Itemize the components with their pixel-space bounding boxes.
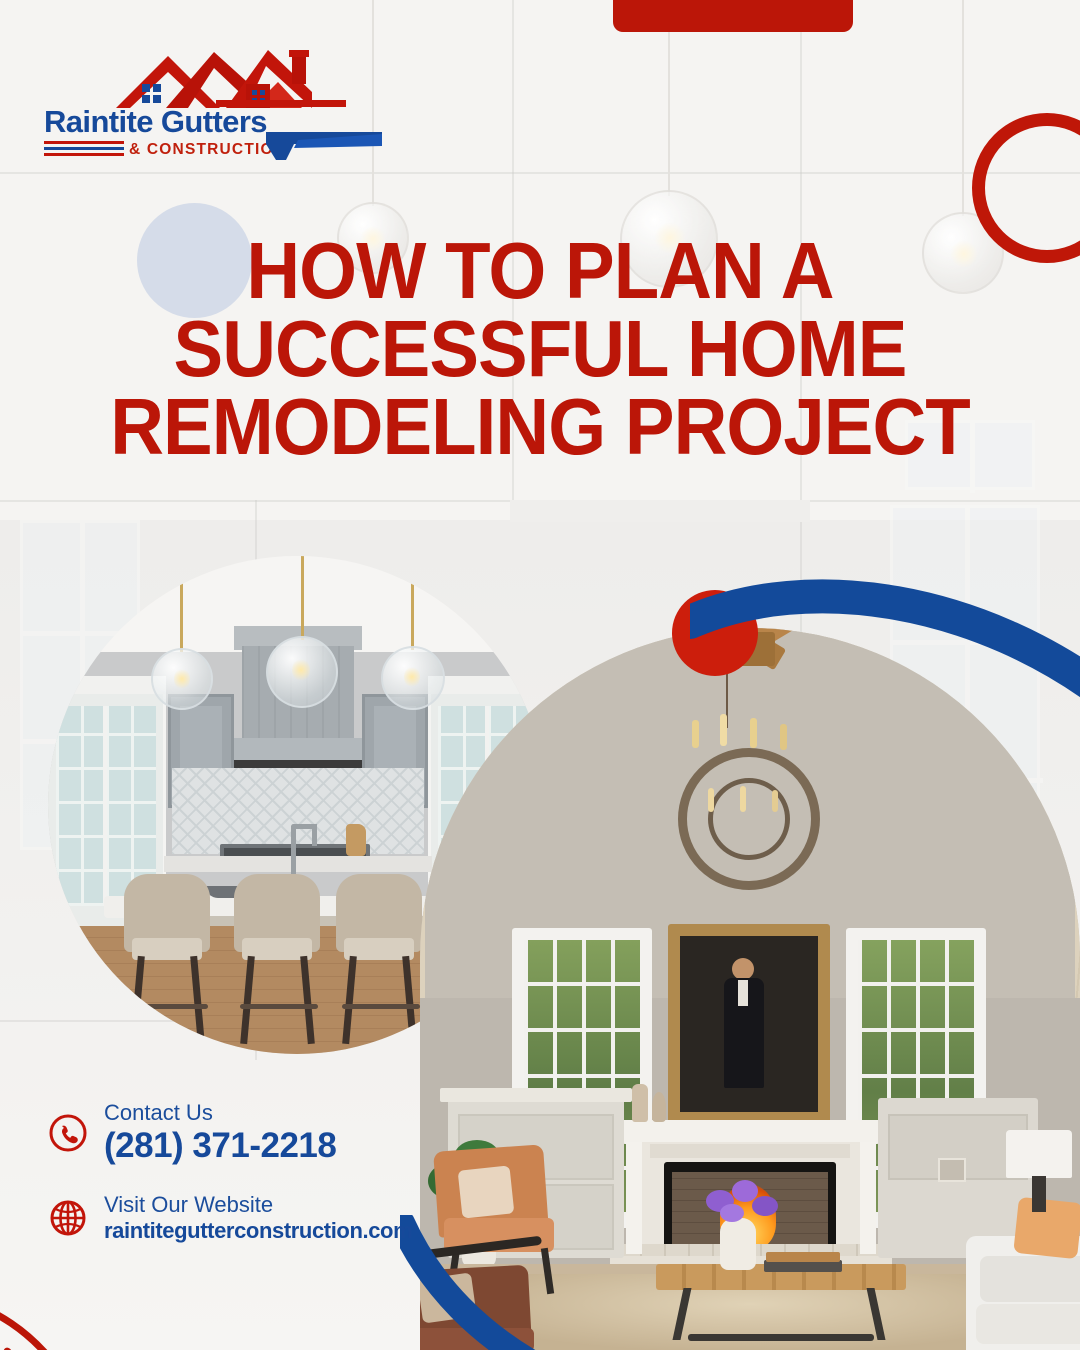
contact-website-url[interactable]: raintitegutterconstruction.com	[104, 1218, 412, 1244]
contact-phone-row[interactable]: Contact Us (281) 371-2218	[48, 1100, 336, 1166]
globe-in-circle-icon	[48, 1198, 88, 1238]
gutter-graphic-icon	[264, 130, 382, 164]
house-roof-gutter-icon	[106, 48, 346, 108]
brand-tagline: & CONSTRUCTION	[129, 141, 286, 159]
headline-line-3: REMODELING PROJECT	[38, 388, 1042, 466]
contact-block: Contact Us (281) 371-2218 Visit Our Webs…	[48, 1100, 478, 1250]
brand-name: Raintite Gutters	[44, 104, 267, 140]
page-title: HOW TO PLAN A SUCCESSFUL HOME REMODELING…	[38, 232, 1042, 466]
headline-line-2: SUCCESSFUL HOME	[38, 310, 1042, 388]
poster-canvas: Raintite Gutters & CONSTRUCTION HOW TO P…	[0, 0, 1080, 1350]
headline-line-1: HOW TO PLAN A	[38, 232, 1042, 310]
top-red-bar	[613, 0, 853, 32]
contact-phone-label: Contact Us	[104, 1100, 336, 1126]
contact-phone-number[interactable]: (281) 371-2218	[104, 1126, 336, 1166]
phone-in-circle-icon	[48, 1113, 88, 1153]
contact-website-label: Visit Our Website	[104, 1192, 412, 1218]
brand-logo[interactable]: Raintite Gutters & CONSTRUCTION	[44, 48, 354, 156]
logo-stripe-accent	[44, 140, 124, 158]
red-dotted-corner-arc	[0, 1275, 130, 1350]
blue-arc-swoosh	[690, 560, 1080, 710]
contact-website-row[interactable]: Visit Our Website raintitegutterconstruc…	[48, 1192, 412, 1244]
